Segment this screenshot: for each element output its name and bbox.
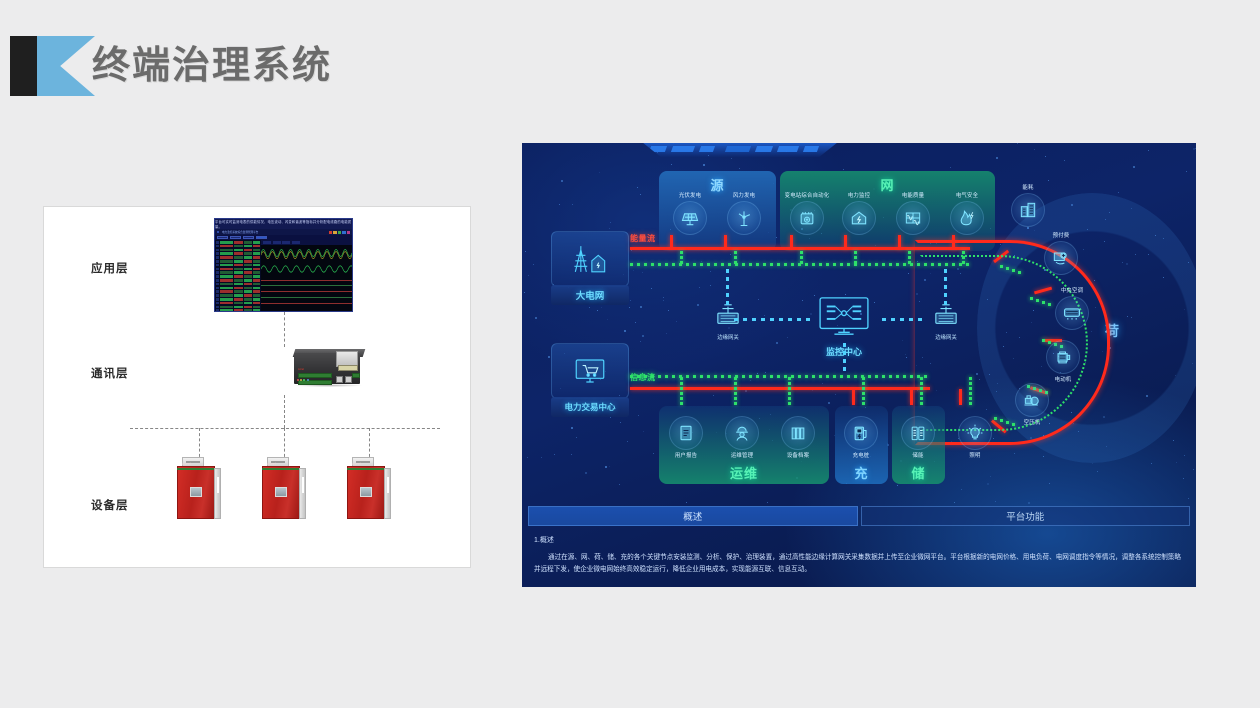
- device-bus-line: [130, 428, 440, 429]
- gateway-led-icon: [297, 379, 299, 381]
- cabinet-display-icon: [275, 487, 287, 497]
- group-title-charge: 充: [835, 463, 888, 482]
- gateway-brand-logo: Acrel: [298, 368, 304, 371]
- gateway-ethernet-port: [336, 376, 343, 383]
- node-ops-management[interactable]: 运维管理: [719, 414, 765, 459]
- software-measurement-list: [215, 240, 261, 312]
- waveform-trace-icon: [261, 246, 352, 260]
- archive-books-icon: [781, 416, 815, 450]
- node-energy-consumption[interactable]: 能耗: [1005, 183, 1051, 227]
- waveform-tab: [263, 241, 271, 244]
- tab-overview[interactable]: 概述: [528, 506, 858, 526]
- gateway-terminal-block: [352, 373, 360, 378]
- node-prepaid[interactable]: 预付费: [1038, 231, 1084, 275]
- prepaid-card-icon: [1044, 241, 1078, 275]
- edge-gateway-device: Acrel: [291, 347, 368, 394]
- slide-page: 终端治理系统 应用层 通讯层 设备层 平台可实时监测电表的供能情况、电压波动、闪…: [0, 0, 1260, 708]
- node-label: 空压机: [1009, 418, 1055, 426]
- report-icon: [669, 416, 703, 450]
- status-chip-icon: [347, 231, 351, 234]
- panel-tabs[interactable]: 概述 平台功能: [528, 506, 1190, 526]
- connector-app-to-comm: [284, 312, 285, 347]
- waveform-trace-icon: [261, 262, 352, 276]
- power-quality-cabinet: Acrel: [177, 457, 222, 519]
- waveform-tab: [273, 241, 281, 244]
- gateway-label-plate: [338, 365, 358, 371]
- group-storage: 储 储能: [892, 406, 945, 484]
- node-energy-storage[interactable]: 储能: [895, 414, 941, 459]
- gateway-ethernet-port: [345, 376, 352, 383]
- software-window-name: 电力监控系统综合监测管理平台: [222, 230, 258, 234]
- gateway-led-row: [297, 379, 309, 381]
- software-body: [215, 240, 352, 312]
- node-label: 充电桩: [838, 451, 884, 459]
- description-body: 通过在源、网、荷、储、充的各个关键节点安装监测、分析、保护、治理装置，通过高性能…: [528, 552, 1190, 576]
- microgrid-overview-panel: 荷 源 光伏发电 风力发电: [522, 143, 1196, 587]
- status-chip-icon: [329, 231, 333, 234]
- architecture-diagram-card: 应用层 通讯层 设备层 平台可实时监测电表的供能情况、电压波动、闪变和谐波等指标…: [43, 206, 471, 568]
- electric-motor-icon: [1046, 340, 1080, 374]
- page-header: 终端治理系统: [0, 0, 1260, 130]
- window-dot-icon: [217, 231, 219, 233]
- toolbar-button: [230, 236, 241, 239]
- group-ops: 运维 用户报告 运维管理: [659, 406, 829, 484]
- node-label: 用户报告: [663, 451, 709, 459]
- node-label: 能耗: [1005, 183, 1051, 191]
- gateway-led-icon: [300, 379, 302, 381]
- node-electric-motor[interactable]: 电动机: [1040, 338, 1086, 383]
- cabinet-stripe: [347, 468, 385, 470]
- node-air-compressor[interactable]: 空压机: [1009, 381, 1055, 426]
- gateway-shadow: [293, 384, 363, 387]
- toolbar-button: [243, 236, 254, 239]
- node-ev-charger[interactable]: 充电桩: [838, 414, 884, 459]
- group-charge: 充 充电桩: [835, 406, 888, 484]
- node-label: 储能: [895, 451, 941, 459]
- logo-chevron-icon: [37, 36, 95, 96]
- monitoring-software-screenshot: 平台可实时监测电表的供能情况、电压波动、闪变和谐波等指标并分析配电线路的电能质量…: [214, 218, 353, 312]
- layer-label-application: 应用层: [91, 260, 129, 276]
- power-quality-cabinet: Acrel: [262, 457, 307, 519]
- cabinet-brand: Acrel: [182, 462, 191, 466]
- waveform-tabbar: [261, 240, 352, 245]
- hvac-icon: [1055, 296, 1089, 330]
- group-title-storage: 储: [892, 463, 945, 482]
- brand-logo: [10, 36, 95, 96]
- ev-charger-icon: [844, 416, 878, 450]
- cabinet-stripe: [262, 468, 300, 470]
- node-label: 中央空调: [1049, 286, 1095, 294]
- description-block: 1.概述 通过在源、网、荷、储、充的各个关键节点安装监测、分析、保护、治理装置，…: [528, 535, 1190, 576]
- waveform-tab: [292, 241, 300, 244]
- cabinet-display-icon: [360, 487, 372, 497]
- description-heading: 1.概述: [534, 535, 1190, 545]
- cabinet-stripe: [177, 468, 215, 470]
- cabinet-brand: Acrel: [352, 462, 361, 466]
- gateway-led-icon: [303, 379, 305, 381]
- node-lighting[interactable]: 照明: [952, 414, 998, 459]
- node-central-ac[interactable]: 中央空调: [1049, 286, 1095, 330]
- cabinet-side-panel: [384, 468, 391, 519]
- tab-platform-functions[interactable]: 平台功能: [861, 506, 1191, 526]
- worker-icon: [725, 416, 759, 450]
- group-title-ops: 运维: [659, 463, 829, 482]
- lightbulb-icon: [958, 416, 992, 450]
- gateway-terminal-block: [298, 373, 332, 378]
- layer-label-communication: 通讯层: [91, 365, 129, 381]
- node-user-report[interactable]: 用户报告: [663, 414, 709, 459]
- node-label: 设备档案: [775, 451, 821, 459]
- cabinet-side-panel: [214, 468, 221, 519]
- status-chip-icon: [333, 231, 337, 234]
- air-compressor-icon: [1015, 383, 1049, 417]
- cabinet-display-icon: [190, 487, 202, 497]
- node-label: 运维管理: [719, 451, 765, 459]
- cabinet-brand: Acrel: [267, 462, 276, 466]
- layer-label-device: 设备层: [91, 497, 129, 513]
- toolbar-button: [256, 236, 267, 239]
- software-status-chips: [329, 231, 351, 234]
- battery-bank-icon: [901, 416, 935, 450]
- power-quality-cabinet: Acrel: [347, 457, 392, 519]
- page-title: 终端治理系统: [92, 40, 332, 92]
- toolbar-button: [217, 236, 228, 239]
- waveform-tab: [282, 241, 290, 244]
- software-waveform-area: [261, 240, 352, 312]
- software-banner-text: 平台可实时监测电表的供能情况、电压波动、闪变和谐波等指标并分析配电线路的电能质量…: [215, 219, 352, 229]
- cabinet-side-panel: [299, 468, 306, 519]
- status-chip-icon: [338, 231, 342, 234]
- node-label: 照明: [952, 451, 998, 459]
- status-chip-icon: [342, 231, 346, 234]
- gateway-led-icon: [307, 379, 309, 381]
- node-device-archive[interactable]: 设备档案: [775, 414, 821, 459]
- node-label: 预付费: [1038, 231, 1084, 239]
- logo-bar-icon: [10, 36, 37, 96]
- buildings-icon: [1011, 193, 1045, 227]
- connector-comm-to-bus: [284, 395, 285, 428]
